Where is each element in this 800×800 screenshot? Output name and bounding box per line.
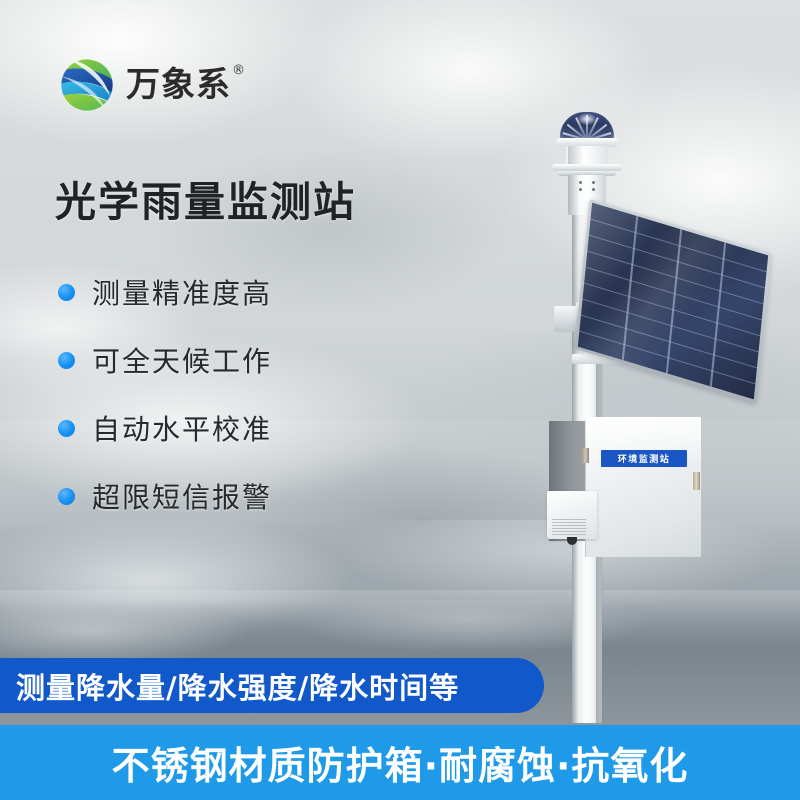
highlight-ribbon: 测量降水量/降水强度/降水时间等	[0, 658, 544, 713]
equipment-cabinet-icon: 环境监测站	[549, 417, 701, 562]
solar-cell-grid	[578, 203, 768, 400]
cable-gland	[567, 537, 577, 545]
feature-label: 可全天候工作	[92, 340, 272, 380]
brand-name-text: 万象系	[126, 65, 231, 105]
cabinet-latch	[693, 472, 700, 490]
list-item: 可全天候工作	[58, 326, 388, 394]
optical-rain-sensor-icon	[548, 112, 626, 212]
globe-swirl-logo-icon	[58, 56, 116, 114]
sensor-shield-upper	[552, 164, 622, 171]
footer-label: 不锈钢材质防护箱·耐腐蚀·抗氧化	[112, 735, 689, 790]
brand-name: 万象系 ®	[126, 68, 231, 102]
vented-junction-box-icon	[547, 491, 597, 539]
product-banner: 环境监测站	[0, 0, 800, 800]
feature-label: 测量精准度高	[92, 272, 272, 312]
brand-logo: 万象系 ®	[58, 56, 231, 114]
footer-banner: 不锈钢材质防护箱·耐腐蚀·抗氧化	[0, 725, 800, 800]
sensor-gap	[568, 146, 606, 166]
solar-panel-frame	[575, 199, 772, 404]
blue-dot-icon	[58, 420, 75, 437]
cabinet-hinge-top	[582, 448, 589, 463]
list-item: 测量精准度高	[58, 258, 388, 326]
cabinet-label: 环境监测站	[601, 450, 687, 467]
registered-trademark-icon: ®	[232, 64, 246, 77]
feature-label: 自动水平校准	[92, 408, 272, 448]
list-item: 超限短信报警	[58, 462, 388, 530]
blue-dot-icon	[58, 352, 75, 369]
list-item: 自动水平校准	[58, 394, 388, 462]
ribbon-label: 测量降水量/降水强度/降水时间等	[16, 665, 459, 707]
blue-dot-icon	[58, 488, 75, 505]
feature-label: 超限短信报警	[92, 476, 272, 516]
page-title: 光学雨量监测站	[55, 168, 356, 228]
feature-list: 测量精准度高 可全天候工作 自动水平校准 超限短信报警	[58, 258, 388, 530]
solar-panel-icon	[566, 222, 766, 394]
blue-dot-icon	[58, 284, 75, 301]
